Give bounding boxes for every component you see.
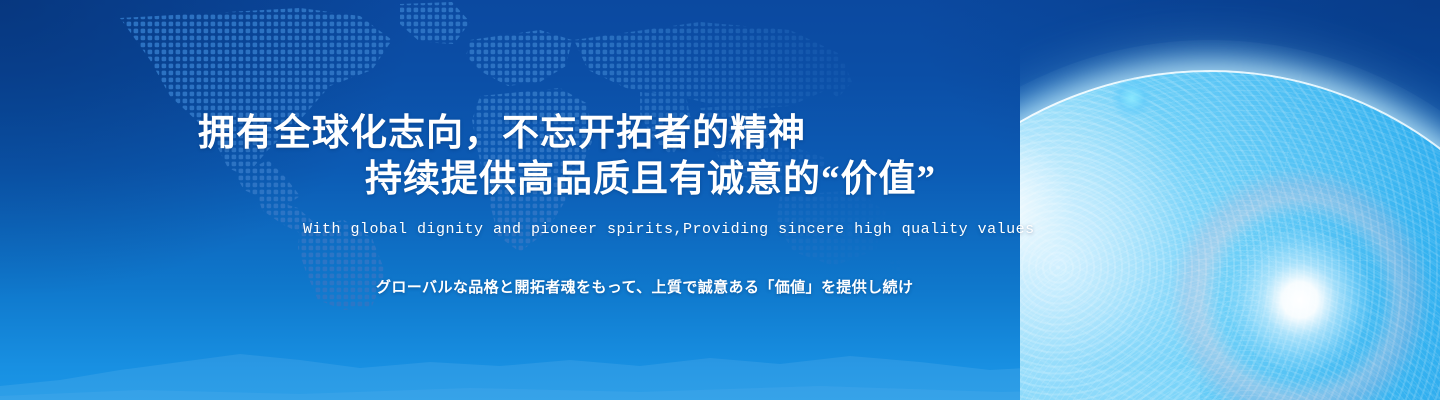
flare-streak-icon: [1020, 170, 1270, 320]
hero-banner: 拥有全球化志向，不忘开拓者的精神 持续提供高品质且有诚意的“价值” With g…: [0, 0, 1440, 400]
headline-line-2: 持续提供高品质且有诚意的“价值”: [198, 157, 936, 203]
banner-subtitle-japanese: グローバルな品格と開拓者魂をもって、上質で誠意ある「価値」を提供し続け: [376, 276, 913, 297]
banner-copy: 拥有全球化志向，不忘开拓者的精神 持续提供高品质且有诚意的“价值” With g…: [0, 0, 1000, 400]
headline-line-1: 拥有全球化志向，不忘开拓者的精神: [198, 113, 806, 154]
lens-flare-orb-icon: [1112, 78, 1152, 118]
banner-subtitle-english: With global dignity and pioneer spirits,…: [303, 221, 1035, 238]
banner-headline: 拥有全球化志向，不忘开拓者的精神 持续提供高品质且有诚意的“价值”: [198, 111, 936, 203]
